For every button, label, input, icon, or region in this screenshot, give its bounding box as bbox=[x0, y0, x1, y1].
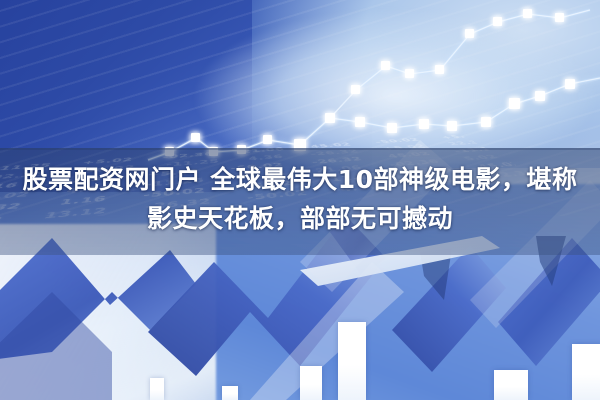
caption-text: 股票配资网门户 全球最伟大10部神级电影，堪称 影史天花板，部部无可撼动 bbox=[0, 160, 600, 238]
bar-column bbox=[222, 386, 238, 400]
bar-column bbox=[150, 378, 164, 400]
caption-line-1: 股票配资网门户 全球最伟大10部神级电影，堪称 bbox=[8, 160, 592, 199]
bar-column bbox=[572, 344, 600, 400]
bar-column bbox=[300, 366, 322, 400]
caption-band-edge bbox=[0, 148, 600, 150]
bar-column-group bbox=[0, 250, 600, 400]
banner-image: -11.25 +5.02 -02.36 21.06 45.02 -50.02 +… bbox=[0, 0, 600, 400]
caption-line-2: 影史天花板，部部无可撼动 bbox=[8, 199, 592, 238]
bar-column bbox=[338, 322, 366, 400]
bar-column bbox=[494, 370, 528, 400]
